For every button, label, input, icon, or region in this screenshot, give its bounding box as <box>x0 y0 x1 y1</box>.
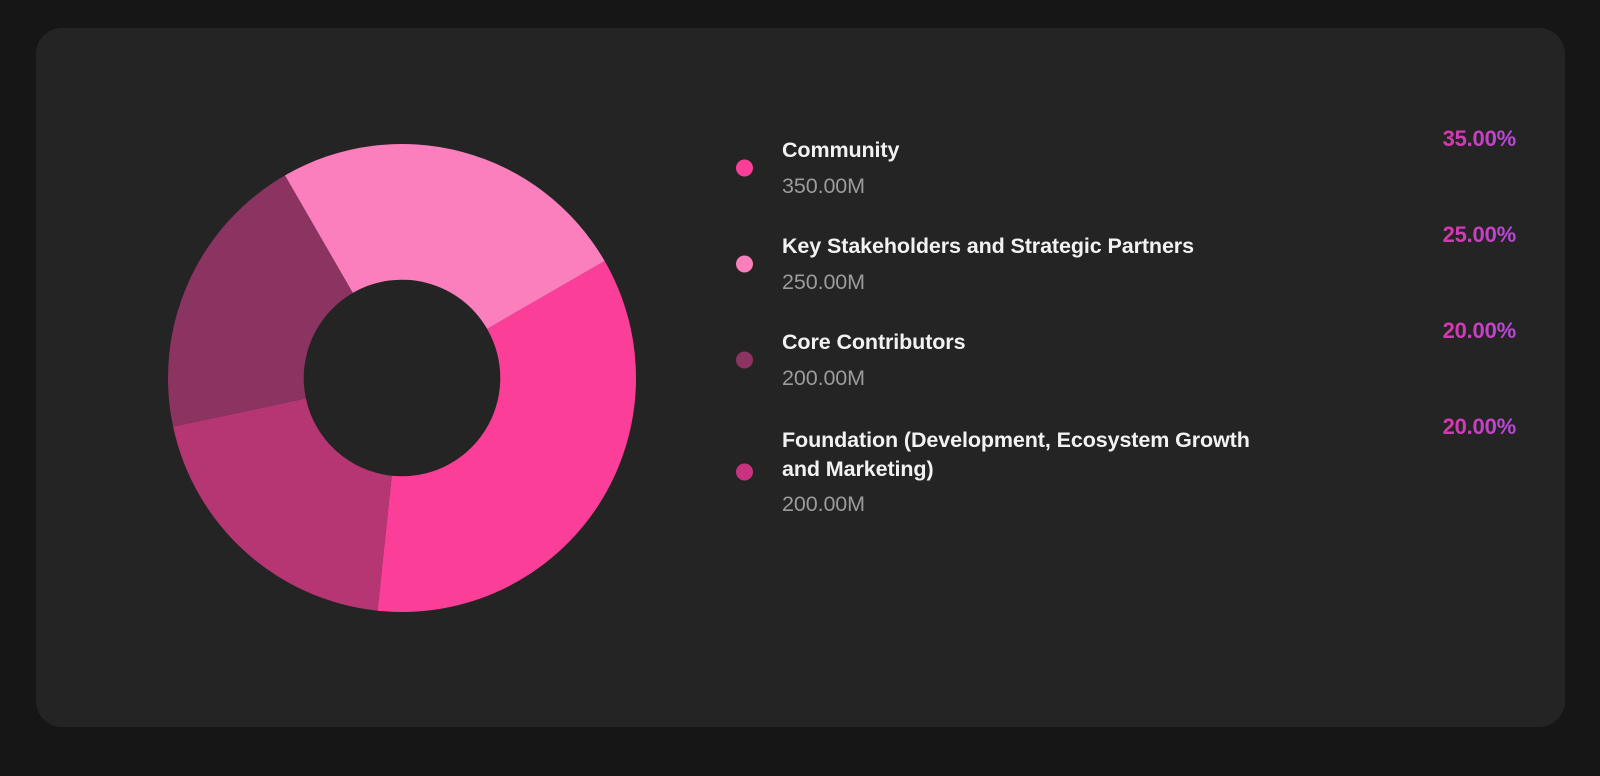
legend-item-percent: 25.00% <box>1412 222 1516 248</box>
legend-item-label: Key Stakeholders and Strategic Partners <box>782 232 1272 260</box>
legend-item-value: 200.00M <box>782 492 1400 518</box>
legend-item-percent: 35.00% <box>1412 126 1516 152</box>
legend-item-key-stakeholders-and-strategic-partners[interactable]: Key Stakeholders and Strategic Partners … <box>736 216 1516 312</box>
legend-item-value: 350.00M <box>782 174 1400 200</box>
legend-text-block: Core Contributors 200.00M <box>782 328 1412 391</box>
legend-item-label: Foundation (Development, Ecosystem Growt… <box>782 426 1272 483</box>
donut-slice[interactable] <box>173 398 392 610</box>
legend-item-percent: 20.00% <box>1412 318 1516 344</box>
legend: Community 350.00M 35.00% Key Stakeholder… <box>736 120 1516 536</box>
legend-text-block: Community 350.00M <box>782 136 1412 199</box>
donut-chart-svg <box>134 140 670 616</box>
legend-text-block: Key Stakeholders and Strategic Partners … <box>782 232 1412 295</box>
donut-chart <box>134 140 670 616</box>
legend-color-dot-icon <box>736 352 753 369</box>
legend-item-foundation[interactable]: Foundation (Development, Ecosystem Growt… <box>736 408 1516 536</box>
tokenomics-card: Community 350.00M 35.00% Key Stakeholder… <box>36 28 1565 727</box>
legend-color-dot-icon <box>736 464 753 481</box>
legend-color-dot-icon <box>736 256 753 273</box>
legend-item-core-contributors[interactable]: Core Contributors 200.00M 20.00% <box>736 312 1516 408</box>
legend-item-value: 200.00M <box>782 366 1400 392</box>
legend-item-community[interactable]: Community 350.00M 35.00% <box>736 120 1516 216</box>
legend-text-block: Foundation (Development, Ecosystem Growt… <box>782 426 1412 518</box>
legend-color-dot-icon <box>736 160 753 177</box>
legend-item-label: Community <box>782 136 1272 164</box>
legend-item-label: Core Contributors <box>782 328 1272 356</box>
legend-item-value: 250.00M <box>782 270 1400 296</box>
legend-item-percent: 20.00% <box>1412 414 1516 440</box>
donut-slice-group <box>168 144 636 612</box>
